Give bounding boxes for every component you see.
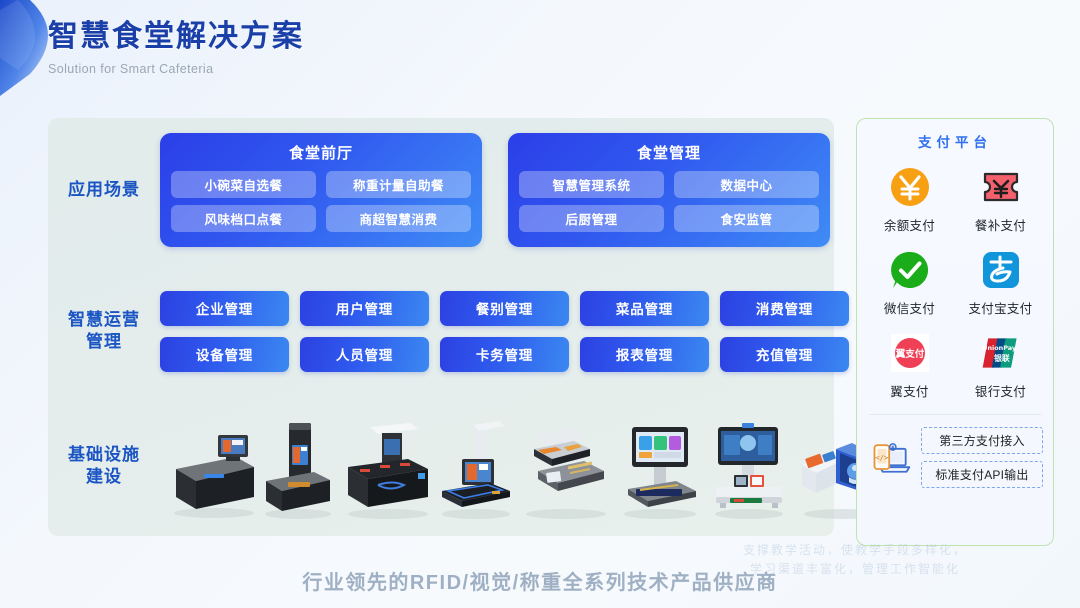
- operation-button[interactable]: 人员管理: [300, 337, 429, 372]
- api-integration-row: </> 第三方支付接入 标准支付API输出: [867, 427, 1043, 488]
- scene-panel-title: 食堂管理: [519, 142, 819, 163]
- infrastructure-label-line2: 建设: [48, 466, 160, 488]
- alipay-icon: [979, 248, 1023, 292]
- best-pay-icon: 翼支付: [888, 331, 932, 375]
- meal-voucher-icon: [979, 165, 1023, 209]
- operation-button[interactable]: 卡务管理: [440, 337, 569, 372]
- yen-circle-icon: [888, 165, 932, 209]
- payment-method-label: 微信支付: [884, 298, 935, 317]
- scenes-row-label: 应用场景: [48, 179, 160, 201]
- scene-panel-title: 食堂前厅: [171, 142, 471, 163]
- operation-button[interactable]: 设备管理: [160, 337, 289, 372]
- payment-platform-panel: 支付平台 余额支付 餐补支付 微信支付: [856, 118, 1054, 546]
- operation-button[interactable]: 餐别管理: [440, 291, 569, 326]
- food-tray-scanner-icon: [516, 419, 612, 519]
- pos-tablet-terminal-icon: [612, 419, 704, 519]
- payment-method-alipay[interactable]: 支付宝支付: [958, 248, 1043, 317]
- payment-method-bank[interactable]: UnionPay 银联 银行支付: [958, 331, 1043, 400]
- unionpay-icon: UnionPay 银联: [979, 331, 1023, 375]
- scene-pill[interactable]: 智慧管理系统: [519, 171, 664, 198]
- operations-label-line2: 管理: [48, 331, 160, 353]
- operation-button[interactable]: 充值管理: [720, 337, 849, 372]
- infrastructure-row: 基础设施 建设: [48, 406, 834, 526]
- floor-scale-kiosk-icon: [434, 419, 516, 519]
- self-checkout-counter-icon: [166, 419, 258, 519]
- application-scenes-row: 应用场景 食堂前厅 小碗菜自选餐 称重计量自助餐 风味档口点餐 商超智慧消费 食…: [48, 128, 834, 252]
- footer-slogan: 行业领先的RFID/视觉/称重全系列技术产品供应商: [0, 566, 1080, 595]
- payment-methods-grid: 余额支付 餐补支付 微信支付 支付宝支付: [867, 165, 1043, 400]
- svg-text:银联: 银联: [993, 353, 1010, 363]
- page-header: 智慧食堂解决方案 Solution for Smart Cafeteria: [48, 18, 304, 76]
- operation-button[interactable]: 消费管理: [720, 291, 849, 326]
- device-gallery: [160, 411, 902, 521]
- smart-operations-row: 智慧运营 管理 企业管理 用户管理 餐别管理 菜品管理 消费管理 设备管理 人员…: [48, 270, 834, 392]
- payment-method-label: 余额支付: [884, 215, 935, 234]
- panel-divider: [869, 414, 1041, 415]
- svg-text:</>: </>: [875, 452, 889, 461]
- svg-text:翼支付: 翼支付: [894, 348, 924, 360]
- scene-pill[interactable]: 商超智慧消费: [326, 205, 471, 232]
- wechat-pay-icon: [888, 248, 932, 292]
- svg-text:UnionPay: UnionPay: [982, 344, 1017, 352]
- page-title: 智慧食堂解决方案: [48, 18, 304, 56]
- operation-button[interactable]: 报表管理: [580, 337, 709, 372]
- payment-method-balance[interactable]: 余额支付: [867, 165, 952, 234]
- scene-panel-front-hall[interactable]: 食堂前厅 小碗菜自选餐 称重计量自助餐 风味档口点餐 商超智慧消费: [160, 133, 482, 247]
- mobile-laptop-icon: </>: [869, 434, 913, 482]
- scene-pill[interactable]: 称重计量自助餐: [326, 171, 471, 198]
- scene-panel-cafeteria-management[interactable]: 食堂管理 智慧管理系统 数据中心 后厨管理 食安监管: [508, 133, 830, 247]
- scene-pill[interactable]: 数据中心: [674, 171, 819, 198]
- payment-method-wechat[interactable]: 微信支付: [867, 248, 952, 317]
- payment-method-label: 翼支付: [890, 381, 928, 400]
- payment-method-meal-subsidy[interactable]: 餐补支付: [958, 165, 1043, 234]
- weighing-scale-display-icon: [704, 419, 792, 519]
- operations-label-line1: 智慧运营: [48, 309, 160, 331]
- scene-pill[interactable]: 后厨管理: [519, 205, 664, 232]
- scene-pill[interactable]: 风味档口点餐: [171, 205, 316, 232]
- payment-method-label: 银行支付: [975, 381, 1026, 400]
- standard-payment-api-output-button[interactable]: 标准支付API输出: [921, 461, 1043, 488]
- operations-row-label: 智慧运营 管理: [48, 309, 160, 354]
- infrastructure-label-line1: 基础设施: [48, 444, 160, 466]
- scene-pill[interactable]: 小碗菜自选餐: [171, 171, 316, 198]
- operation-button[interactable]: 菜品管理: [580, 291, 709, 326]
- page-subtitle: Solution for Smart Cafeteria: [48, 62, 304, 76]
- overhead-scan-counter-icon: [338, 419, 434, 519]
- scene-pill[interactable]: 食安监管: [674, 205, 819, 232]
- payment-method-label: 餐补支付: [975, 215, 1026, 234]
- payment-method-label: 支付宝支付: [968, 298, 1032, 317]
- operation-button[interactable]: 企业管理: [160, 291, 289, 326]
- third-party-payment-access-button[interactable]: 第三方支付接入: [921, 427, 1043, 454]
- main-content-card: 应用场景 食堂前厅 小碗菜自选餐 称重计量自助餐 风味档口点餐 商超智慧消费 食…: [48, 118, 834, 536]
- payment-method-bestpay[interactable]: 翼支付 翼支付: [867, 331, 952, 400]
- vertical-kiosk-terminal-icon: [258, 419, 338, 519]
- infrastructure-row-label: 基础设施 建设: [48, 444, 160, 489]
- payment-panel-title: 支付平台: [867, 131, 1043, 151]
- operation-button[interactable]: 用户管理: [300, 291, 429, 326]
